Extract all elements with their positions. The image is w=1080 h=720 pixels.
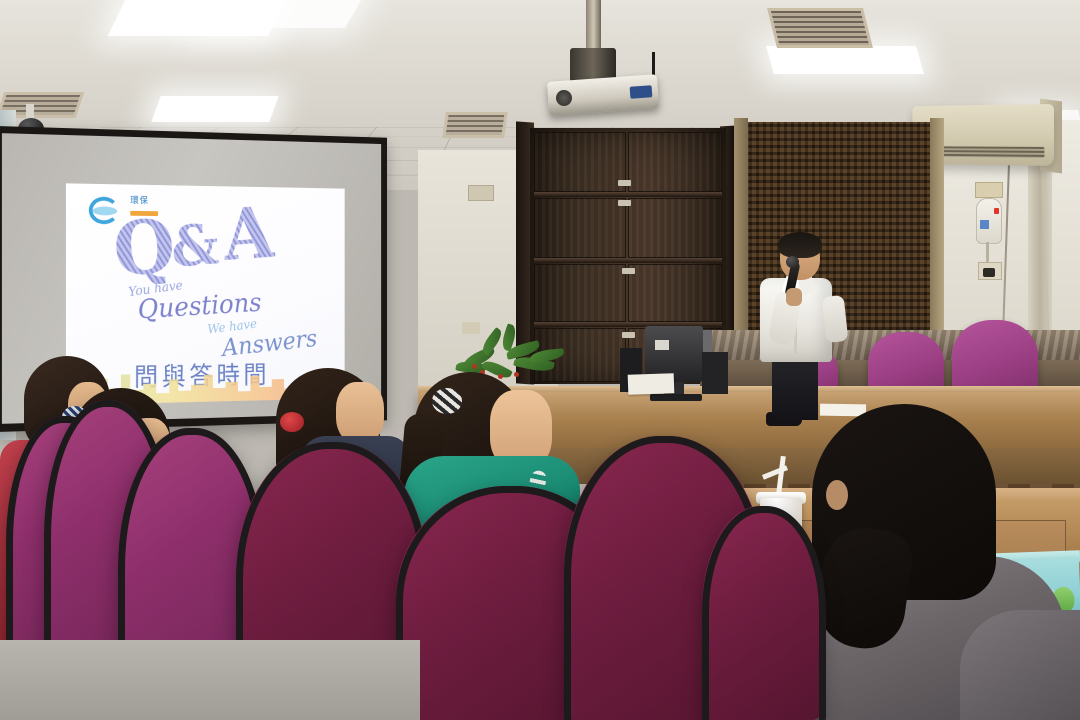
ceiling-light-panel [151,96,278,122]
cabinet-door[interactable] [534,132,626,192]
projector-pole [586,0,601,52]
presenter-hair [778,232,822,258]
cabinet-shelf [534,192,722,197]
cabinet-door[interactable] [534,198,626,258]
slide-heading-ampersand: & [169,216,220,275]
dispenser-status-led [994,208,999,214]
dispenser-panel [980,220,989,229]
papers-on-podium[interactable] [628,373,675,395]
cabinet-handle[interactable] [618,180,631,186]
slide-heading-q: Q [111,209,177,287]
wall-notice [468,185,494,201]
ceiling-light-panel [195,0,367,28]
power-plug [983,268,995,277]
ceiling-air-vent [767,8,873,48]
cabinet-handle[interactable] [622,268,635,274]
ceiling-light-panel [766,46,924,74]
cabinet-door[interactable] [628,264,722,322]
floor [0,640,420,720]
wall-panel-frame [930,118,944,334]
cabinet-door[interactable] [534,264,626,322]
presenter-right-arm [822,295,849,343]
slide-heading-a: A [221,198,277,272]
projector-vga-port [630,85,653,99]
presenter-hand [786,288,802,306]
attendee-4-scrunchie [432,388,462,414]
desktop-speaker [702,352,728,394]
attendee-3-face [336,382,384,444]
monitor-label [655,340,669,350]
monitor-base [650,394,702,401]
ceiling-air-vent [442,112,508,138]
conference-room-photo: 環保 Q & A You have Questions We have Answ… [0,0,1080,720]
cabinet-handle[interactable] [618,200,631,206]
dispenser-cord [986,242,989,262]
microphone-head-icon [786,256,799,268]
cabinet-handle[interactable] [622,332,635,338]
presentation-slide: 環保 Q & A You have Questions We have Answ… [66,183,345,405]
attendee-5-ear [826,480,848,510]
slide-heading: Q & A [111,205,309,285]
attendee-3-hairtie [280,412,304,432]
audience-chair-trim [702,506,826,720]
dispenser-label-plate [975,182,1003,198]
attendee-5-shoulder [960,610,1080,720]
wall-panel-frame [734,118,748,334]
cabinet-shelf [534,258,722,263]
cabinet-door[interactable] [628,198,722,258]
cabinet-door[interactable] [628,132,722,192]
presenter-trousers [772,352,818,420]
